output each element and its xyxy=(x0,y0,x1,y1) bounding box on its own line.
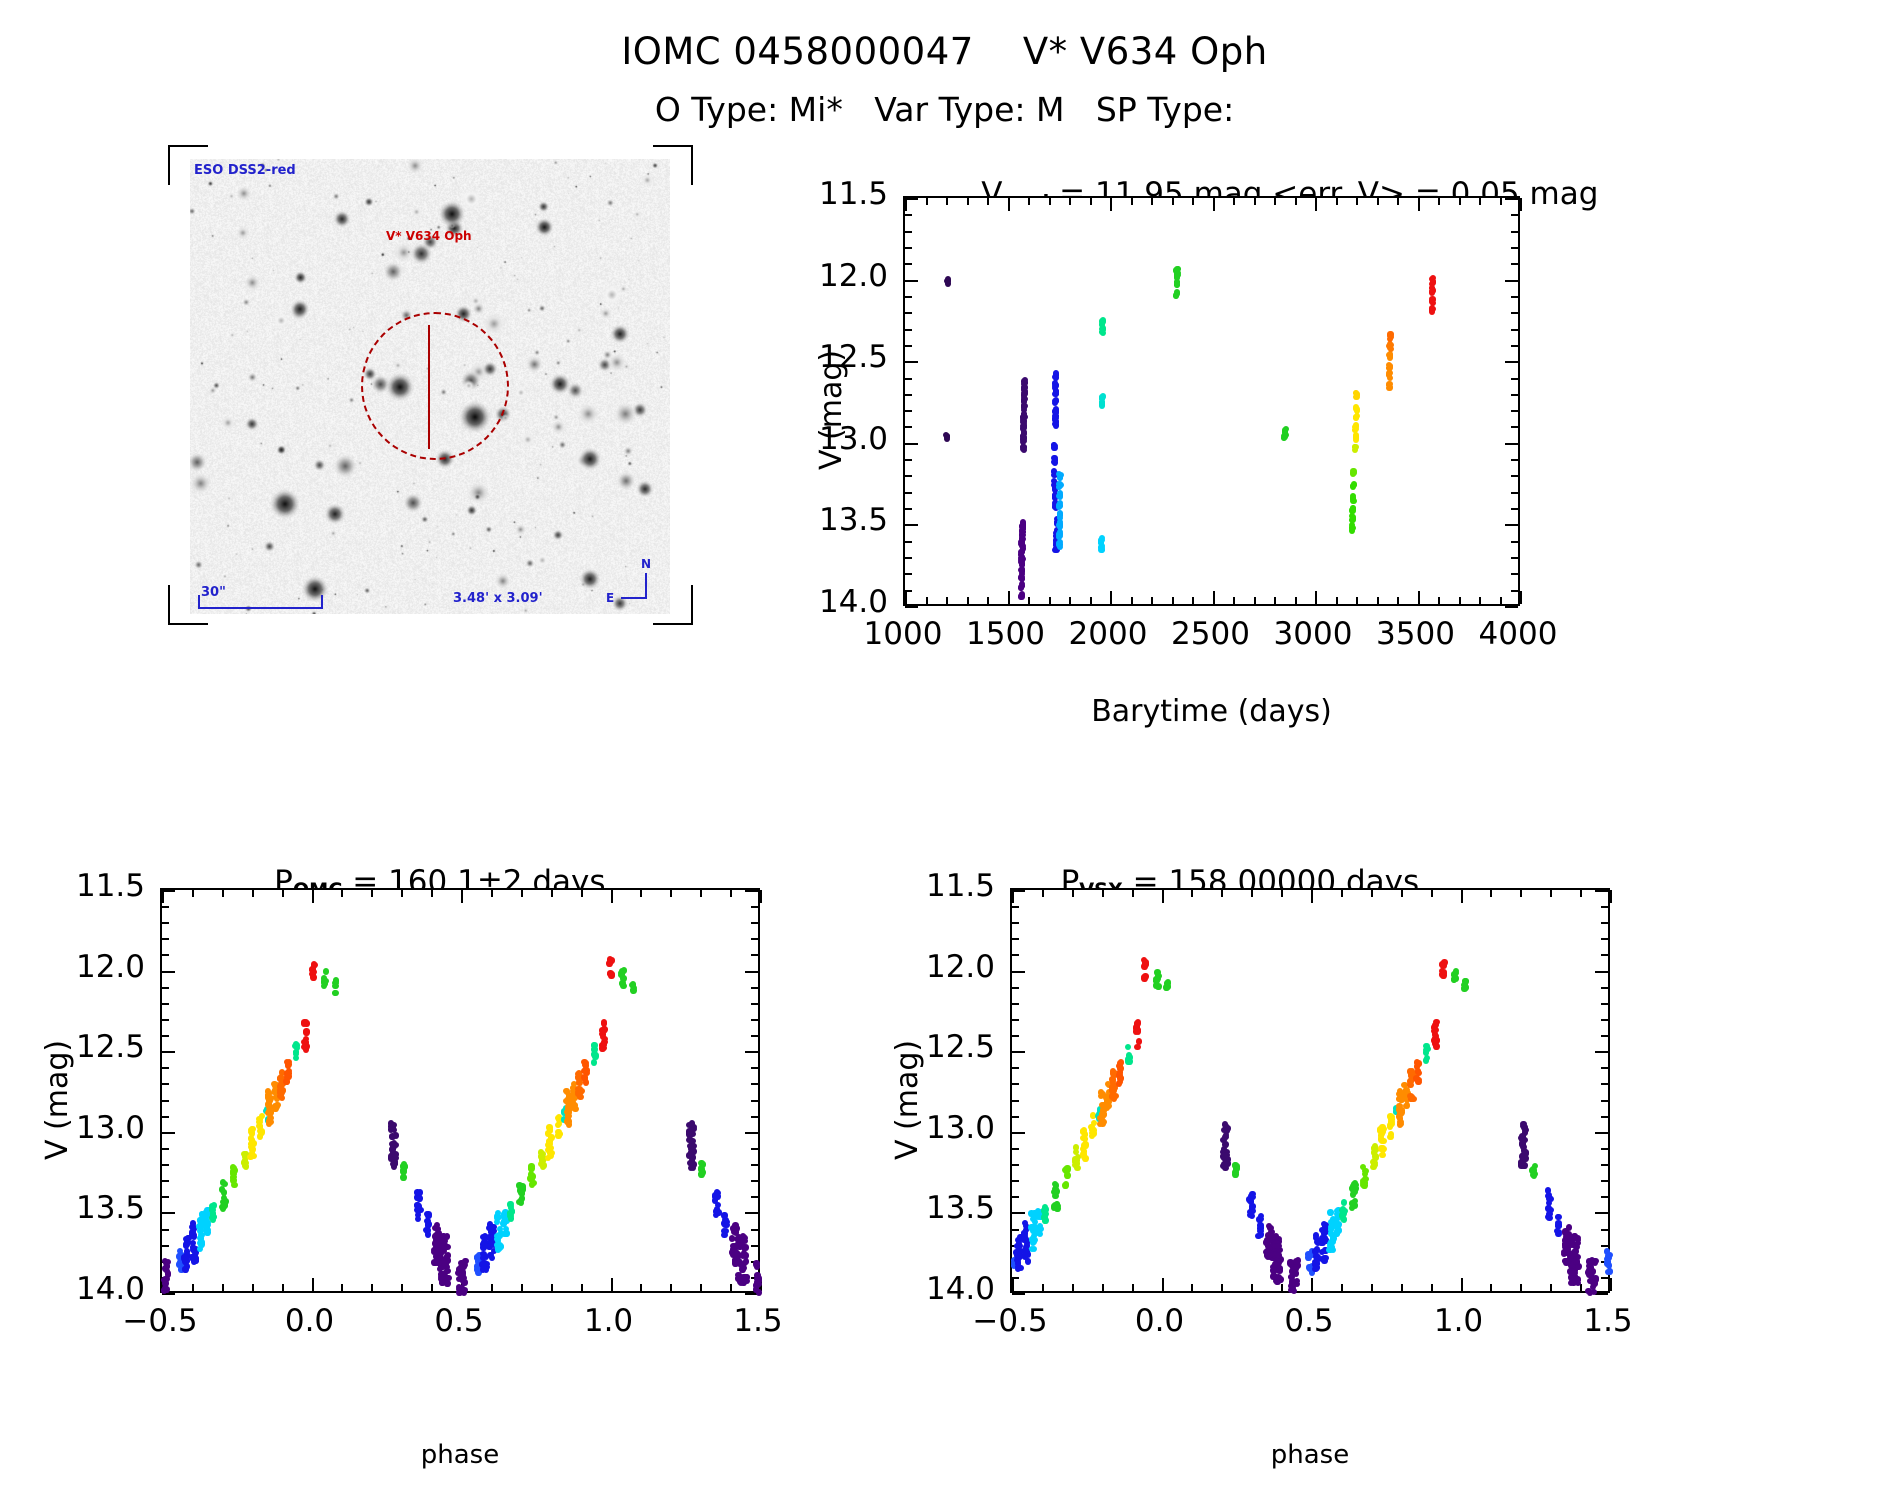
y-minor-tick xyxy=(1601,987,1608,989)
x-minor-tick xyxy=(1431,1284,1433,1291)
y-minor-tick xyxy=(162,922,169,924)
y-minor-tick xyxy=(1511,459,1518,461)
data-point xyxy=(1053,375,1059,381)
compass-north-line xyxy=(645,573,647,599)
data-point xyxy=(1032,1237,1038,1243)
data-point xyxy=(546,1142,552,1148)
y-minor-tick xyxy=(162,1245,169,1247)
x-major-tick xyxy=(1610,1278,1612,1291)
data-point xyxy=(266,1108,272,1114)
x-minor-tick xyxy=(1356,198,1358,205)
y-tick-label: 13.0 xyxy=(10,1110,145,1146)
x-tick-label: −0.5 xyxy=(100,1303,220,1339)
x-minor-tick xyxy=(1550,1284,1552,1291)
y-minor-tick xyxy=(751,1083,758,1085)
data-point xyxy=(1407,1082,1413,1088)
scale-bar-line xyxy=(198,607,323,609)
y-minor-tick xyxy=(1511,214,1518,216)
y-major-tick xyxy=(1595,1212,1608,1214)
x-minor-tick xyxy=(967,597,969,604)
frame-corner-br xyxy=(691,585,693,625)
data-point xyxy=(1568,1280,1574,1286)
x-minor-tick xyxy=(1520,1284,1522,1291)
y-minor-tick xyxy=(1012,906,1019,908)
data-point xyxy=(1276,1268,1282,1274)
y-minor-tick xyxy=(751,1116,758,1118)
y-minor-tick xyxy=(751,954,758,956)
x-minor-tick xyxy=(1102,890,1104,897)
data-point xyxy=(436,1255,442,1261)
x-minor-tick xyxy=(1233,597,1235,604)
y-tick-label: 13.0 xyxy=(860,1110,995,1146)
data-point xyxy=(1341,1199,1347,1205)
x-major-tick xyxy=(611,1278,613,1291)
data-point xyxy=(1062,1182,1068,1188)
y-minor-tick xyxy=(1601,1003,1608,1005)
y-minor-tick xyxy=(1601,1148,1608,1150)
data-point xyxy=(277,1087,283,1093)
x-minor-tick xyxy=(1341,1284,1343,1291)
x-minor-tick xyxy=(1049,198,1051,205)
x-minor-tick xyxy=(1090,198,1092,205)
y-minor-tick xyxy=(751,1245,758,1247)
data-point xyxy=(1352,1182,1358,1188)
data-point xyxy=(1099,547,1105,553)
x-minor-tick xyxy=(1397,198,1399,205)
y-major-tick xyxy=(745,890,758,892)
y-minor-tick xyxy=(162,1003,169,1005)
y-minor-tick xyxy=(751,1100,758,1102)
y-minor-tick xyxy=(751,938,758,940)
data-point xyxy=(1371,1160,1377,1166)
x-major-tick xyxy=(461,890,463,903)
x-minor-tick xyxy=(1401,890,1403,897)
x-minor-tick xyxy=(670,890,672,897)
data-point xyxy=(221,1189,227,1195)
x-minor-tick xyxy=(1371,890,1373,897)
data-point xyxy=(575,1086,581,1092)
data-point xyxy=(1592,1260,1598,1266)
data-point xyxy=(323,968,329,974)
data-point xyxy=(753,1260,759,1266)
y-major-tick xyxy=(162,1051,175,1053)
y-minor-tick xyxy=(1601,954,1608,956)
x-minor-tick xyxy=(1069,198,1071,205)
x-minor-tick xyxy=(1281,1284,1283,1291)
data-point xyxy=(230,1177,236,1183)
x-minor-tick xyxy=(1377,198,1379,205)
y-major-tick xyxy=(1012,1293,1025,1295)
data-point xyxy=(1378,1132,1384,1138)
y-minor-tick xyxy=(905,426,912,428)
y-minor-tick xyxy=(1511,426,1518,428)
data-point xyxy=(1248,1198,1254,1204)
y-major-tick xyxy=(1012,1132,1025,1134)
x-minor-tick xyxy=(1254,198,1256,205)
y-minor-tick xyxy=(905,459,912,461)
data-point xyxy=(1521,1147,1527,1153)
y-minor-tick xyxy=(751,1148,758,1150)
x-minor-tick xyxy=(1580,890,1582,897)
y-minor-tick xyxy=(1601,906,1608,908)
data-point xyxy=(301,1044,307,1050)
data-point xyxy=(601,1027,607,1033)
x-minor-tick xyxy=(581,890,583,897)
data-point xyxy=(1099,535,1105,541)
target-crosshair-v xyxy=(428,325,430,449)
y-major-tick xyxy=(162,1212,175,1214)
y-major-tick xyxy=(1595,890,1608,892)
x-minor-tick xyxy=(1042,890,1044,897)
y-minor-tick xyxy=(1601,938,1608,940)
data-point xyxy=(294,1042,300,1048)
data-point xyxy=(439,1271,445,1277)
y-minor-tick xyxy=(905,492,912,494)
data-point xyxy=(1099,319,1105,325)
x-minor-tick xyxy=(730,1284,732,1291)
x-major-tick xyxy=(1012,1278,1014,1291)
data-point xyxy=(740,1233,746,1239)
x-minor-tick xyxy=(700,1284,702,1291)
x-major-tick xyxy=(1610,890,1612,903)
data-point xyxy=(1058,472,1064,478)
data-point xyxy=(528,1176,534,1182)
x-minor-tick xyxy=(1274,597,1276,604)
data-point xyxy=(1431,1037,1437,1043)
y-minor-tick xyxy=(162,1035,169,1037)
x-minor-tick xyxy=(371,890,373,897)
y-major-tick xyxy=(162,1132,175,1134)
data-point xyxy=(489,1255,495,1261)
data-point xyxy=(732,1222,738,1228)
data-point xyxy=(1424,1055,1430,1061)
data-point xyxy=(265,1101,271,1107)
x-minor-tick xyxy=(1233,198,1235,205)
data-point xyxy=(1414,1059,1420,1065)
data-point xyxy=(197,1246,203,1252)
y-minor-tick xyxy=(905,214,912,216)
x-minor-tick xyxy=(1371,1284,1373,1291)
x-minor-tick xyxy=(1072,890,1074,897)
x-minor-tick xyxy=(1459,597,1461,604)
x-minor-tick xyxy=(341,1284,343,1291)
x-tick-label: 1.0 xyxy=(549,1303,669,1339)
x-tick-label: 0.5 xyxy=(399,1303,519,1339)
frame-corner-tl2 xyxy=(168,145,208,147)
y-minor-tick xyxy=(1012,922,1019,924)
y-major-tick xyxy=(1505,524,1518,526)
x-major-tick xyxy=(1520,591,1522,604)
data-point xyxy=(1021,1231,1027,1237)
data-point xyxy=(1555,1220,1561,1226)
y-minor-tick xyxy=(905,590,912,592)
x-major-tick xyxy=(1315,591,1317,604)
x-minor-tick xyxy=(1500,198,1502,205)
x-minor-tick xyxy=(521,890,523,897)
x-minor-tick xyxy=(1336,198,1338,205)
x-minor-tick xyxy=(670,1284,672,1291)
data-point xyxy=(563,1088,569,1094)
x-minor-tick xyxy=(1341,890,1343,897)
x-minor-tick xyxy=(1069,597,1071,604)
lightcurve-xlabel: Barytime (days) xyxy=(903,694,1520,729)
x-minor-tick xyxy=(1438,198,1440,205)
data-point xyxy=(1403,1103,1409,1109)
x-major-tick xyxy=(611,890,613,903)
phase-omc-plot-area xyxy=(160,888,760,1293)
data-point xyxy=(249,1126,255,1132)
frame-corner-tl xyxy=(168,145,170,185)
x-minor-tick xyxy=(1397,597,1399,604)
y-minor-tick xyxy=(1511,378,1518,380)
x-major-tick xyxy=(1315,198,1317,211)
y-major-tick xyxy=(905,361,918,363)
x-minor-tick xyxy=(1438,597,1440,604)
data-point xyxy=(1117,1069,1123,1075)
phase-vsx-plot-area xyxy=(1010,888,1610,1293)
x-minor-tick xyxy=(640,1284,642,1291)
y-minor-tick xyxy=(1511,263,1518,265)
data-point xyxy=(1353,415,1359,421)
data-point xyxy=(258,1129,264,1135)
y-minor-tick xyxy=(905,247,912,249)
data-point xyxy=(400,1174,406,1180)
y-tick-label: 12.0 xyxy=(10,949,145,985)
x-minor-tick xyxy=(1251,1284,1253,1291)
data-point xyxy=(393,1155,399,1161)
data-point xyxy=(211,1202,217,1208)
x-minor-tick xyxy=(581,1284,583,1291)
x-minor-tick xyxy=(1191,1284,1193,1291)
data-point xyxy=(416,1203,422,1209)
data-point xyxy=(1266,1236,1272,1242)
y-minor-tick xyxy=(905,394,912,396)
data-point xyxy=(230,1164,236,1170)
data-point xyxy=(583,1079,589,1085)
data-point xyxy=(1109,1093,1115,1099)
data-point xyxy=(1155,983,1161,989)
data-point xyxy=(284,1072,290,1078)
data-point xyxy=(591,1059,597,1065)
y-major-tick xyxy=(1505,280,1518,282)
x-major-tick xyxy=(1418,591,1420,604)
y-minor-tick xyxy=(751,1229,758,1231)
y-minor-tick xyxy=(751,922,758,924)
data-point xyxy=(1141,975,1147,981)
x-minor-tick xyxy=(1090,597,1092,604)
y-minor-tick xyxy=(1601,1180,1608,1182)
data-point xyxy=(722,1217,728,1223)
data-point xyxy=(444,1280,450,1286)
y-minor-tick xyxy=(1601,1277,1608,1279)
data-point xyxy=(1275,1243,1281,1249)
data-point xyxy=(321,975,327,981)
y-minor-tick xyxy=(162,1116,169,1118)
x-minor-tick xyxy=(1221,1284,1223,1291)
data-point xyxy=(1351,481,1357,487)
data-point xyxy=(756,1289,762,1295)
survey-label: ESO DSS2-red xyxy=(194,163,296,178)
y-minor-tick xyxy=(1012,1067,1019,1069)
data-point xyxy=(272,1103,278,1109)
data-point xyxy=(310,974,316,980)
field-size-label: 3.48' x 3.09' xyxy=(453,591,543,606)
data-point xyxy=(461,1287,467,1293)
x-minor-tick xyxy=(491,890,493,897)
y-minor-tick xyxy=(1511,557,1518,559)
data-point xyxy=(230,1171,236,1177)
frame-corner-tr2 xyxy=(653,145,693,147)
y-minor-tick xyxy=(1012,1148,1019,1150)
x-tick-label: 1.5 xyxy=(698,1303,818,1339)
data-point xyxy=(723,1228,729,1234)
y-minor-tick xyxy=(162,1067,169,1069)
data-point xyxy=(1142,959,1148,965)
y-major-tick xyxy=(1505,198,1518,200)
x-minor-tick xyxy=(1131,198,1133,205)
data-point xyxy=(1547,1196,1553,1202)
x-minor-tick xyxy=(700,890,702,897)
x-minor-tick xyxy=(1336,597,1338,604)
y-minor-tick xyxy=(1601,1035,1608,1037)
x-major-tick xyxy=(1311,1278,1313,1291)
x-tick-label: 1.5 xyxy=(1548,1303,1668,1339)
y-tick-label: 14.0 xyxy=(860,1271,995,1307)
data-point xyxy=(1281,435,1287,441)
x-minor-tick xyxy=(1490,1284,1492,1291)
data-point xyxy=(390,1143,396,1149)
x-minor-tick xyxy=(1028,597,1030,604)
y-major-tick xyxy=(1012,890,1025,892)
x-minor-tick xyxy=(431,890,433,897)
x-minor-tick xyxy=(1479,198,1481,205)
data-point xyxy=(1519,1137,1525,1143)
x-minor-tick xyxy=(1151,597,1153,604)
y-minor-tick xyxy=(751,1180,758,1182)
data-point xyxy=(1037,1231,1043,1237)
target-aperture-circle xyxy=(361,312,509,460)
y-minor-tick xyxy=(905,378,912,380)
x-minor-tick xyxy=(1500,597,1502,604)
data-point xyxy=(165,1270,171,1276)
data-point xyxy=(1053,391,1059,397)
x-minor-tick xyxy=(640,890,642,897)
y-minor-tick xyxy=(1012,1019,1019,1021)
data-point xyxy=(390,1122,396,1128)
data-point xyxy=(1305,1254,1311,1260)
data-point xyxy=(1117,1079,1123,1085)
y-major-tick xyxy=(1595,971,1608,973)
x-minor-tick xyxy=(1251,890,1253,897)
data-point xyxy=(182,1266,188,1272)
x-major-tick xyxy=(1418,198,1420,211)
scale-bar-tick-right xyxy=(321,595,323,609)
data-point xyxy=(1057,503,1063,509)
data-point xyxy=(601,1041,607,1047)
y-major-tick xyxy=(745,1212,758,1214)
y-minor-tick xyxy=(905,508,912,510)
x-minor-tick xyxy=(431,1284,433,1291)
y-tick-label: 13.0 xyxy=(753,421,888,457)
data-point xyxy=(1353,437,1359,443)
data-point xyxy=(1388,1119,1394,1125)
x-major-tick xyxy=(1520,198,1522,211)
y-minor-tick xyxy=(1511,590,1518,592)
x-minor-tick xyxy=(282,1284,284,1291)
data-point xyxy=(1015,1259,1021,1265)
data-point xyxy=(1350,495,1356,501)
x-minor-tick xyxy=(946,597,948,604)
data-point xyxy=(729,1235,735,1241)
x-minor-tick xyxy=(1281,890,1283,897)
data-point xyxy=(1016,1264,1022,1270)
data-point xyxy=(460,1264,466,1270)
data-point xyxy=(1372,1153,1378,1159)
data-point xyxy=(425,1211,431,1217)
x-minor-tick xyxy=(222,890,224,897)
data-point xyxy=(1293,1258,1299,1264)
y-minor-tick xyxy=(1511,508,1518,510)
x-minor-tick xyxy=(967,198,969,205)
data-point xyxy=(1125,1044,1131,1050)
x-minor-tick xyxy=(252,890,254,897)
x-minor-tick xyxy=(926,198,928,205)
data-point xyxy=(566,1121,572,1127)
y-minor-tick xyxy=(751,1019,758,1021)
data-point xyxy=(1563,1258,1569,1264)
y-minor-tick xyxy=(751,1035,758,1037)
data-point xyxy=(569,1104,575,1110)
data-point xyxy=(1587,1278,1593,1284)
data-point xyxy=(1570,1270,1576,1276)
y-minor-tick xyxy=(1511,329,1518,331)
x-minor-tick xyxy=(1191,890,1193,897)
y-minor-tick xyxy=(162,1019,169,1021)
y-minor-tick xyxy=(905,329,912,331)
data-point xyxy=(1073,1144,1079,1150)
data-point xyxy=(1387,345,1393,351)
x-minor-tick xyxy=(1132,890,1134,897)
data-point xyxy=(1020,434,1026,440)
x-minor-tick xyxy=(1172,597,1174,604)
data-point xyxy=(1327,1209,1333,1215)
y-minor-tick xyxy=(751,906,758,908)
data-point xyxy=(1104,1099,1110,1105)
y-major-tick xyxy=(162,890,175,892)
y-major-tick xyxy=(162,971,175,973)
y-minor-tick xyxy=(1601,1229,1608,1231)
x-tick-label: 0.0 xyxy=(1100,1303,1220,1339)
x-tick-label: −0.5 xyxy=(950,1303,1070,1339)
data-point xyxy=(1118,1059,1124,1065)
y-minor-tick xyxy=(1012,1196,1019,1198)
y-minor-tick xyxy=(1012,1100,1019,1102)
y-minor-tick xyxy=(1511,541,1518,543)
y-minor-tick xyxy=(162,1148,169,1150)
y-minor-tick xyxy=(162,1083,169,1085)
data-point xyxy=(1248,1193,1254,1199)
data-point xyxy=(618,972,624,978)
y-major-tick xyxy=(1012,1051,1025,1053)
data-point xyxy=(461,1280,467,1286)
x-minor-tick xyxy=(1102,1284,1104,1291)
data-point xyxy=(415,1216,421,1222)
y-minor-tick xyxy=(905,231,912,233)
x-minor-tick xyxy=(1254,597,1256,604)
x-minor-tick xyxy=(1131,597,1133,604)
x-minor-tick xyxy=(1192,198,1194,205)
data-point xyxy=(1276,1252,1282,1258)
